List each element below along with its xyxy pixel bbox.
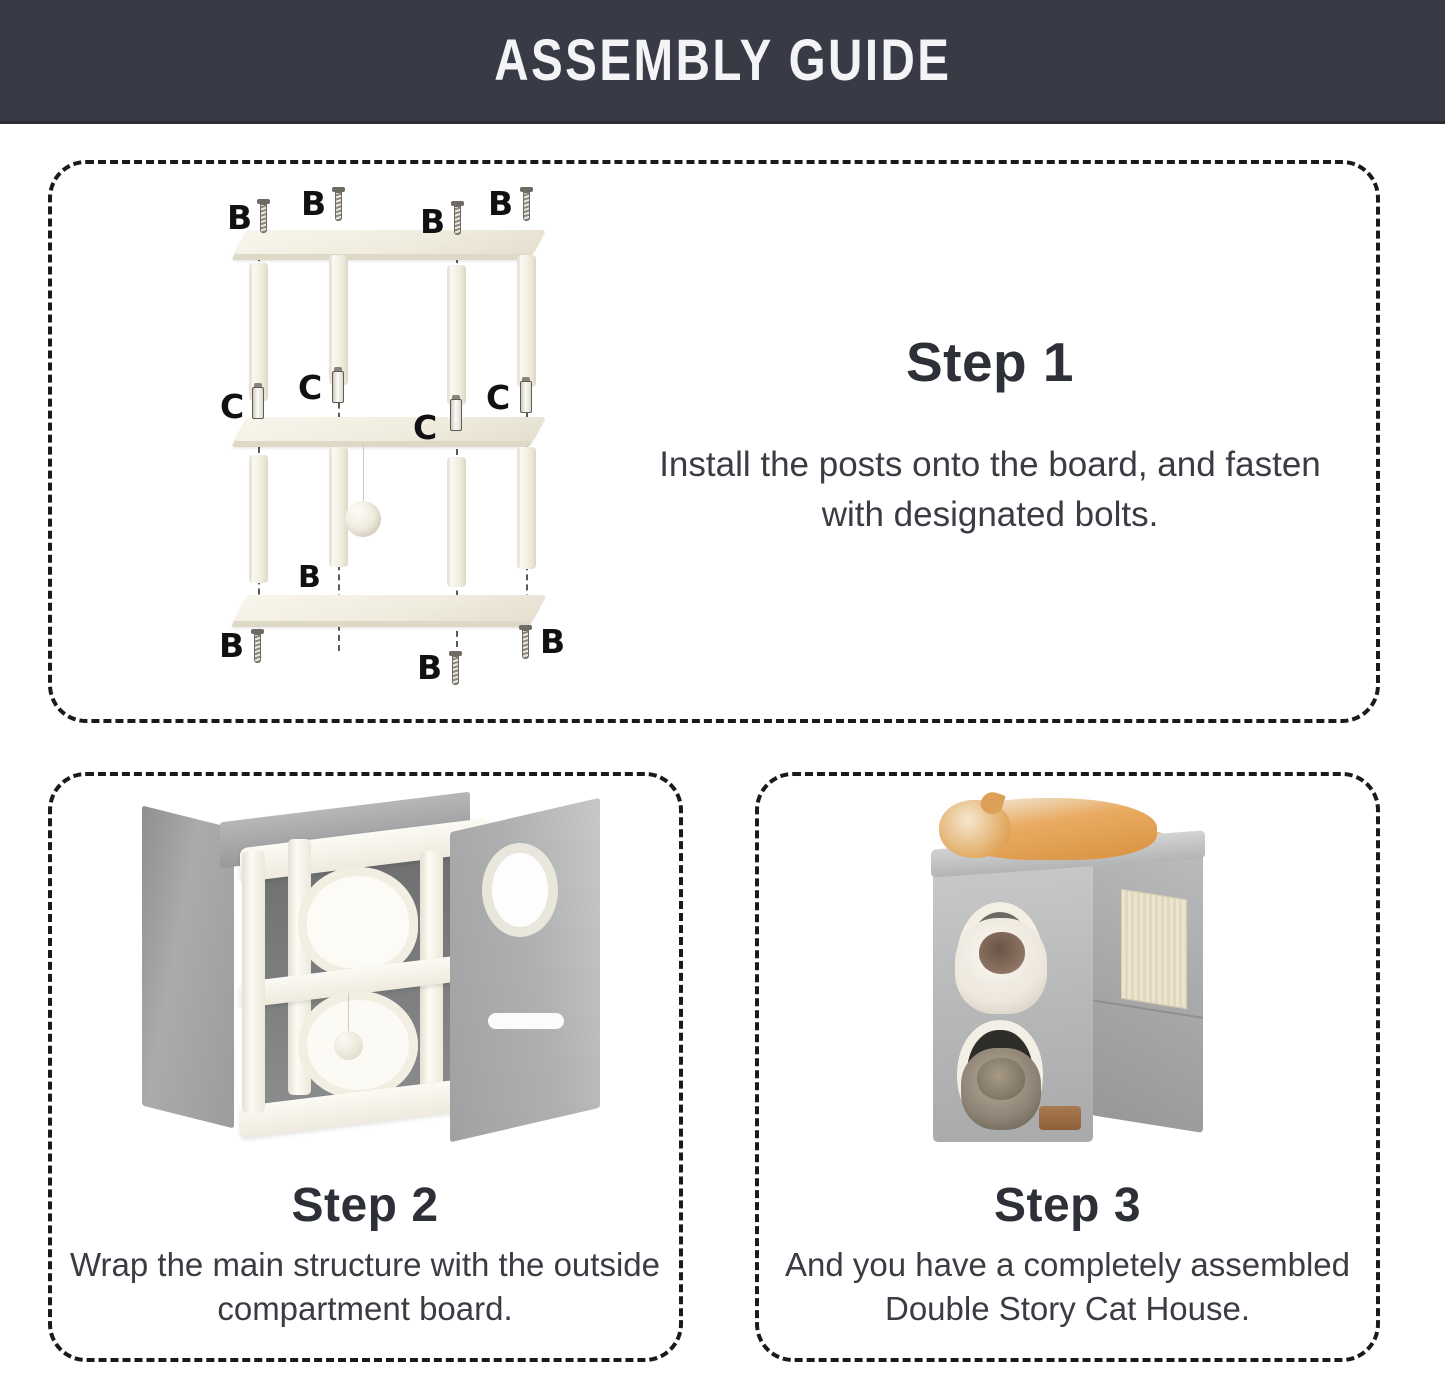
board-face <box>234 230 547 254</box>
post <box>329 255 348 385</box>
step-2-title: Step 2 <box>60 1178 670 1233</box>
screw-icon <box>451 201 464 235</box>
toy-string <box>363 443 364 505</box>
board-face <box>233 595 547 621</box>
step-3-text-block: Step 3 And you have a completely assembl… <box>765 1178 1370 1331</box>
cat-ragdoll-face <box>979 932 1025 974</box>
label-bolt-b: B <box>298 563 321 593</box>
cat-tree-post <box>242 851 265 1113</box>
step-1-body: Install the posts onto the board, and fa… <box>640 440 1340 539</box>
barrel-connector-icon <box>450 395 462 435</box>
label-bolt-b: B <box>540 625 565 658</box>
screw-icon <box>519 625 532 659</box>
label-connector-c: C <box>486 381 510 414</box>
step-2-photo <box>120 795 620 1170</box>
top-board <box>234 230 547 254</box>
step-3-photo <box>905 790 1235 1170</box>
toy-string <box>348 993 349 1035</box>
felt-panel-slot <box>488 1013 564 1029</box>
step-2-body: Wrap the main structure with the outside… <box>60 1243 670 1331</box>
step-3-body: And you have a completely assembled Doub… <box>765 1243 1370 1331</box>
sisal-scratch-pad <box>1121 889 1187 1009</box>
post <box>517 447 536 569</box>
step-3-title: Step 3 <box>765 1178 1370 1233</box>
step-2-text-block: Step 2 Wrap the main structure with the … <box>60 1178 670 1331</box>
label-bolt-b: B <box>301 187 326 220</box>
post <box>329 447 348 567</box>
post <box>517 255 536 387</box>
screw-icon <box>251 629 264 663</box>
post <box>249 455 268 583</box>
screw-icon <box>332 187 345 221</box>
felt-panel-opening <box>492 853 548 927</box>
label-bolt-b: B <box>417 651 442 684</box>
step-1-text-block: Step 1 Install the posts onto the board,… <box>640 330 1340 539</box>
upper-oval-opening <box>298 867 418 977</box>
page-header: ASSEMBLY GUIDE <box>0 0 1445 124</box>
cat-tabby-face <box>977 1058 1025 1100</box>
label-bolt-b: B <box>219 629 244 662</box>
barrel-connector-icon <box>252 383 264 423</box>
step-1-title: Step 1 <box>640 330 1340 394</box>
exploded-assembly-diagram: B B B B C C C C <box>195 185 595 705</box>
post <box>447 457 466 587</box>
screw-icon <box>449 651 462 685</box>
label-connector-c: C <box>298 371 322 404</box>
barrel-connector-icon <box>332 367 344 407</box>
post <box>447 265 466 405</box>
pompom-ball-icon <box>334 1031 363 1060</box>
assembly-guide-page: ASSEMBLY GUIDE <box>0 0 1445 1375</box>
label-connector-c: C <box>413 411 437 444</box>
label-bolt-b: B <box>488 187 513 220</box>
barrel-connector-icon <box>520 377 532 417</box>
middle-board <box>234 417 547 441</box>
screw-icon <box>520 187 533 221</box>
screw-icon <box>257 199 270 233</box>
brand-logo-tag <box>1039 1106 1081 1130</box>
page-title: ASSEMBLY GUIDE <box>494 27 951 94</box>
label-bolt-b: B <box>420 205 445 238</box>
bottom-board <box>233 595 547 621</box>
post <box>249 263 268 401</box>
pompom-ball-icon <box>345 501 381 537</box>
label-bolt-b: B <box>227 201 252 234</box>
board-face <box>234 417 547 441</box>
label-connector-c: C <box>220 390 244 423</box>
felt-panel-right <box>450 798 600 1143</box>
